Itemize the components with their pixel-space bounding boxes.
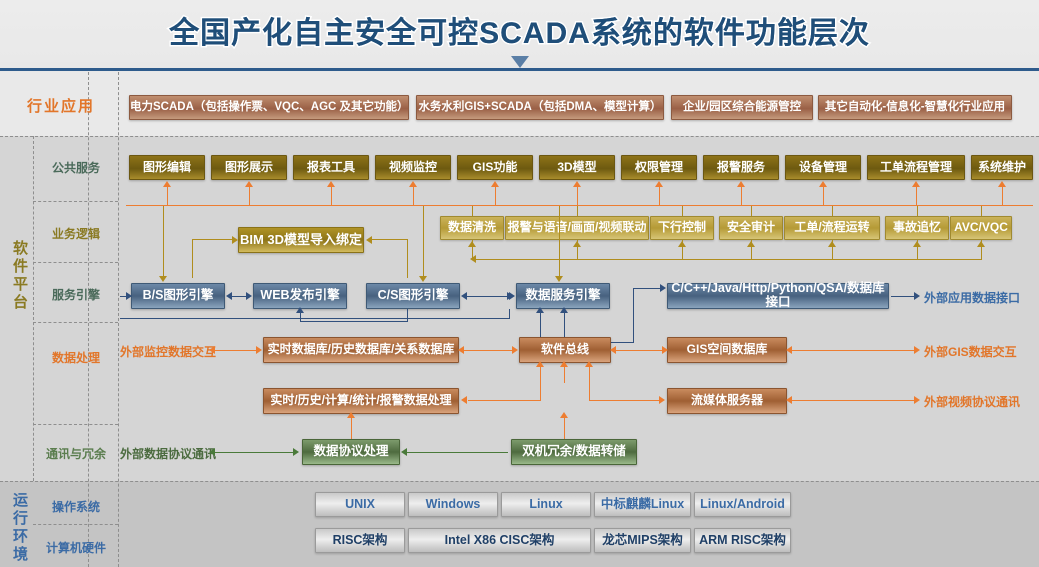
connector-bus-api-horizontal-top — [633, 288, 663, 289]
connector-api-external — [891, 296, 916, 297]
sidebar-label-software-platform: 软件平台 — [4, 240, 30, 312]
connector-db-bus — [463, 350, 513, 351]
data-box-software-bus[interactable]: 软件总线 — [519, 337, 611, 363]
stem-bus-to-cs-engine — [423, 206, 424, 278]
separator-industry-software — [0, 136, 1039, 137]
arrow-up-bus-right2 — [585, 361, 593, 367]
public-service-box-workorder-process[interactable]: 工单流程管理 — [867, 155, 965, 180]
arrow-left-db-bus — [458, 346, 464, 354]
arrow-up-biz-workorder — [828, 241, 836, 247]
separator-business-service — [33, 262, 118, 263]
arrow-left-redundancy-protocol — [401, 448, 407, 456]
external-label-data-protocol-comm: 外部数据协议通讯 — [120, 445, 216, 462]
sidebar-label-service-engine: 服务引擎 — [36, 286, 116, 303]
connector-biz-downlink — [682, 206, 683, 216]
arrow-up-graphic-display — [245, 181, 253, 187]
industry-app-box-other-industries[interactable]: 其它自动化-信息化-智慧化行业应用 — [818, 95, 1012, 120]
arrow-left-gis-external — [786, 346, 792, 354]
public-service-box-system-maintenance[interactable]: 系统维护 — [971, 155, 1033, 180]
separator-data-comm — [33, 424, 118, 425]
arrow-up-report-tool — [327, 181, 335, 187]
arrow-up-graphic-edit — [163, 181, 171, 187]
external-label-gis-data-exchange: 外部GIS数据交互 — [924, 343, 1017, 360]
arrow-left-monitor-exchange — [209, 346, 215, 354]
external-label-monitor-data-exchange: 外部监控数据交互 — [120, 343, 216, 360]
sidebar-label-runtime-environment: 运行环境 — [4, 492, 30, 564]
connector-biz-security-audit — [751, 206, 752, 216]
arrow-up-processing-protocol — [347, 412, 355, 418]
hardware-box-arm-risc[interactable]: ARM RISC架构 — [694, 528, 791, 553]
connector-media-horizontal — [589, 400, 661, 401]
arrow-up-biz-data-cleaning — [468, 241, 476, 247]
title-band: 全国产化自主安全可控SCADA系统的软件功能层次 全国产化自主安全可控SCADA… — [0, 0, 1039, 62]
arrow-right-data-engine-in — [507, 292, 513, 300]
arrow-left-bim-right — [366, 236, 372, 244]
public-service-box-permission-management[interactable]: 权限管理 — [621, 155, 697, 180]
business-logic-box-data-cleaning[interactable]: 数据清洗 — [440, 216, 504, 240]
connector-left-long-riser — [509, 309, 510, 319]
separator-os-hardware — [33, 524, 118, 525]
service-engine-box-api-interface[interactable]: C/C++/Java/Http/Python/QSA/数据库接口 — [667, 283, 889, 309]
connector-cs-data — [466, 296, 510, 297]
connector-biz-alarm-linkage — [577, 206, 578, 216]
comm-box-dual-redundancy-transfer[interactable]: 双机冗余/数据转储 — [511, 439, 637, 465]
public-service-box-alarm-service[interactable]: 报警服务 — [703, 155, 779, 180]
arrow-right-db-bus — [512, 346, 518, 354]
arrow-right-gis-external — [914, 346, 920, 354]
arrow-up-bus-right — [560, 361, 568, 367]
arrow-down-bs-engine — [159, 276, 167, 282]
connector-biz-data-cleaning — [472, 206, 473, 216]
comm-box-data-protocol-processing[interactable]: 数据协议处理 — [302, 439, 400, 465]
business-logic-box-accident-recall[interactable]: 事故追忆 — [885, 216, 949, 240]
arrow-up-biz-downlink — [678, 241, 686, 247]
connector-gis-external — [791, 350, 916, 351]
os-box-linux-android[interactable]: Linux/Android — [694, 492, 791, 517]
arrow-right-monitor-db — [256, 346, 262, 354]
connector-protocol-external — [214, 452, 296, 453]
stem-bus-to-data-engine — [559, 206, 560, 278]
arrow-left-processing — [461, 396, 467, 404]
sidebar-label-operating-system: 操作系统 — [36, 498, 116, 515]
arrow-left-media-external — [786, 396, 792, 404]
connector-processing-horizontal — [468, 400, 541, 401]
connector-processing-riser — [540, 383, 541, 401]
connector-bus-gis — [615, 350, 663, 351]
arrow-up-alarm-service — [737, 181, 745, 187]
public-service-box-device-management[interactable]: 设备管理 — [785, 155, 861, 180]
business-logic-box-downlink-control[interactable]: 下行控制 — [650, 216, 714, 240]
arrow-up-biz-security-audit — [747, 241, 755, 247]
arrow-up-gis-function — [491, 181, 499, 187]
title-divider — [0, 68, 1039, 71]
connector-biz-accident — [917, 206, 918, 216]
arrow-left-business-collector — [470, 255, 476, 263]
arrow-right-api-external — [914, 292, 920, 300]
orange-service-bus-line — [126, 205, 1033, 206]
sidebar-label-comm-redundancy: 通讯与冗余 — [34, 445, 118, 462]
connector-monitor-db — [214, 350, 260, 351]
arrow-left-bs-web — [226, 292, 232, 300]
os-box-windows[interactable]: Windows — [408, 492, 498, 517]
sidebar-label-business-logic: 业务逻辑 — [36, 225, 116, 242]
os-box-linux[interactable]: Linux — [501, 492, 591, 517]
stem-bus-to-bs-engine — [163, 206, 164, 278]
separator-col-platform — [33, 136, 34, 481]
os-box-unix[interactable]: UNIX — [315, 492, 405, 517]
separator-col-level1 — [88, 72, 89, 567]
hardware-box-risc[interactable]: RISC架构 — [315, 528, 405, 553]
arrow-up-3d-model — [573, 181, 581, 187]
service-engine-box-cs-graphic[interactable]: C/S图形引擎 — [366, 283, 460, 309]
industry-app-box-energy-management[interactable]: 企业/园区综合能源管控 — [671, 95, 813, 120]
separator-col-level2 — [118, 72, 119, 567]
separator-public-business — [33, 201, 118, 202]
sidebar-label-computer-hardware: 计算机硬件 — [34, 539, 118, 556]
connector-biz-avc — [981, 206, 982, 216]
arrow-left-bus-gis — [610, 346, 616, 354]
public-service-box-graphic-display[interactable]: 图形展示 — [211, 155, 287, 180]
public-service-box-graphic-edit[interactable]: 图形编辑 — [129, 155, 205, 180]
arrow-right-bus-api — [660, 284, 666, 292]
arrow-right-left-edge-bs — [126, 292, 132, 300]
arrow-up-biz-accident — [913, 241, 921, 247]
connector-left-long-to-data-engine — [120, 318, 510, 319]
arrow-up-biz-avc — [977, 241, 985, 247]
business-logic-collector-line — [472, 259, 982, 260]
public-service-box-video-monitor[interactable]: 视频监控 — [375, 155, 451, 180]
external-label-app-data-interface: 外部应用数据接口 — [924, 289, 1020, 306]
sidebar-label-industry: 行业应用 — [6, 95, 116, 116]
business-logic-box-workorder-flow[interactable]: 工单/流程运转 — [784, 216, 880, 240]
business-logic-box-security-audit[interactable]: 安全审计 — [719, 216, 783, 240]
arrow-up-biz-alarm-linkage — [573, 241, 581, 247]
connector-bim-right-vertical — [407, 240, 408, 278]
arrow-up-video-monitor — [409, 181, 417, 187]
connector-bim-left-vertical — [192, 240, 193, 278]
arrow-up-permission — [655, 181, 663, 187]
external-label-video-protocol-comm: 外部视频协议通讯 — [924, 393, 1020, 410]
sidebar-label-public-service: 公共服务 — [36, 159, 116, 176]
business-logic-box-alarm-linkage[interactable]: 报警与语音/画面/视频联动 — [505, 216, 649, 240]
arrow-up-device-management — [819, 181, 827, 187]
data-box-realtime-history-relational-db[interactable]: 实时数据库/历史数据库/关系数据库 — [263, 337, 459, 363]
public-service-box-report-tool[interactable]: 报表工具 — [293, 155, 369, 180]
connector-bus-api-vertical — [633, 288, 634, 343]
arrow-down-data-engine — [555, 276, 563, 282]
connector-bim-left-horizontal — [192, 239, 234, 240]
industry-app-box-power-scada[interactable]: 电力SCADA（包括操作票、VQC、AGC 及其它功能） — [129, 95, 409, 120]
connector-redundancy-protocol — [406, 452, 508, 453]
public-service-box-3d-model[interactable]: 3D模型 — [539, 155, 615, 180]
arrow-left-protocol-external — [209, 448, 215, 456]
page-title: 全国产化自主安全可控SCADA系统的软件功能层次 — [0, 8, 1039, 52]
hardware-box-loongson-mips[interactable]: 龙芯MIPS架构 — [594, 528, 691, 553]
separator-service-data — [33, 322, 118, 323]
sidebar-label-data-processing: 数据处理 — [36, 349, 116, 366]
arrow-up-bus-left — [536, 361, 544, 367]
arrow-up-data-engine-bus — [536, 307, 544, 313]
arrow-right-media-external — [914, 396, 920, 404]
arrow-down-cs-engine — [419, 276, 427, 282]
data-box-streaming-media-server[interactable]: 流媒体服务器 — [667, 388, 787, 414]
arrow-up-system-maintenance — [998, 181, 1006, 187]
arrow-up-data-engine-bus2 — [560, 307, 568, 313]
arrow-up-web-db — [296, 307, 304, 313]
public-service-box-gis-function[interactable]: GIS功能 — [457, 155, 533, 180]
connector-web-db-right-vertical — [407, 309, 408, 322]
connector-media-riser — [589, 383, 590, 401]
os-box-neokylin-linux[interactable]: 中标麒麟Linux — [594, 492, 691, 517]
connector-biz-workorder — [832, 206, 833, 216]
arrow-right-bus-gis — [662, 346, 668, 354]
industry-app-box-water-scada[interactable]: 水务水利GIS+SCADA（包括DMA、模型计算） — [416, 95, 664, 120]
arrow-right-media — [659, 396, 665, 404]
arrow-left-cs-data — [461, 292, 467, 300]
service-engine-box-data-service[interactable]: 数据服务引擎 — [516, 283, 610, 309]
arrow-right-bs-web — [246, 292, 252, 300]
separator-software-runtime — [0, 481, 1039, 482]
business-logic-box-avc-vqc[interactable]: AVC/VQC — [950, 216, 1012, 240]
bim-3d-model-box[interactable]: BIM 3D模型导入绑定 — [238, 227, 364, 253]
arrow-up-bus-redundancy — [560, 412, 568, 418]
connector-bs-web — [231, 296, 247, 297]
data-box-gis-spatial-db[interactable]: GIS空间数据库 — [667, 337, 787, 363]
connector-bim-right-horizontal — [370, 239, 408, 240]
hardware-box-intel-x86-cisc[interactable]: Intel X86 CISC架构 — [408, 528, 591, 553]
arrow-right-bim-left — [232, 236, 238, 244]
service-engine-box-bs-graphic[interactable]: B/S图形引擎 — [131, 283, 225, 309]
connector-web-db-horizontal — [300, 321, 408, 322]
connector-media-external — [791, 400, 916, 401]
title-caret-icon — [511, 56, 529, 68]
arrow-right-protocol-external — [293, 448, 299, 456]
data-box-realtime-history-calc-alarm[interactable]: 实时/历史/计算/统计/报警数据处理 — [263, 388, 459, 414]
arrow-up-workorder — [912, 181, 920, 187]
service-engine-box-web-publish[interactable]: WEB发布引擎 — [253, 283, 347, 309]
